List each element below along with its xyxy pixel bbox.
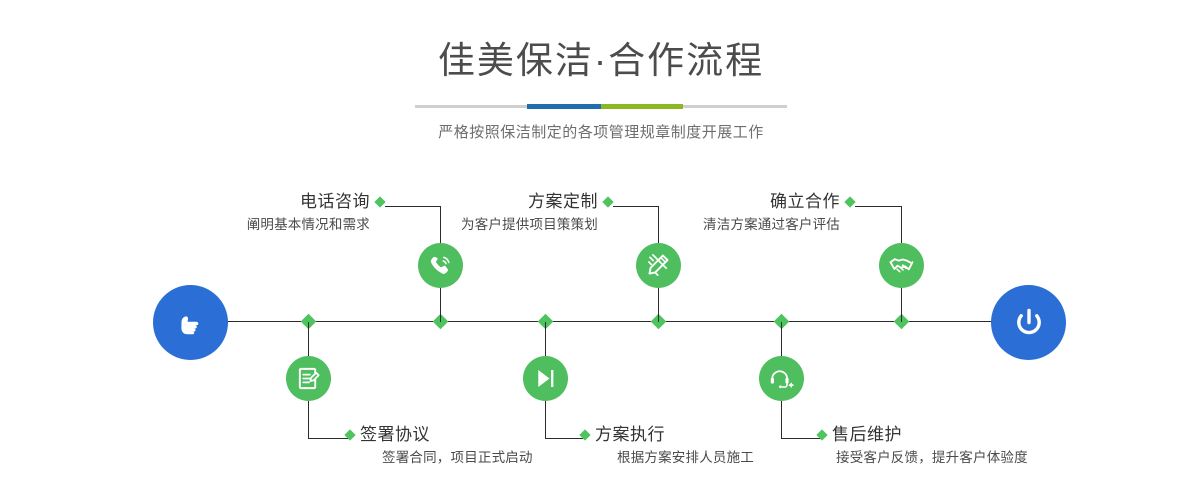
step-title-6: 售后维护 — [832, 425, 1092, 445]
play-execute-icon — [533, 366, 558, 391]
phone-call-icon — [427, 252, 454, 279]
step-title-1: 电话咨询 — [150, 192, 370, 212]
step-node-2[interactable] — [286, 356, 331, 401]
pointing-hand-icon — [171, 303, 211, 343]
process-timeline: 电话咨询 阐明基本情况和需求 方案定制 为客户提供项目策策划 确立合作 清洁方案… — [0, 0, 1202, 502]
step-label-4: 方案执行 根据方案安排人员施工 — [595, 425, 825, 467]
customer-service-icon — [768, 366, 794, 392]
step-label-5: 确立合作 清洁方案通过客户评估 — [622, 192, 840, 234]
step-desc-4: 根据方案安排人员施工 — [617, 449, 825, 467]
infographic-root: 佳美保洁·合作流程 严格按照保洁制定的各项管理规章制度开展工作 — [0, 0, 1202, 502]
timeline-end-node — [991, 285, 1066, 360]
step-title-4: 方案执行 — [595, 425, 825, 445]
step-node-1[interactable] — [418, 243, 463, 288]
step-node-4[interactable] — [523, 356, 568, 401]
document-edit-icon — [296, 366, 321, 391]
step-title-5: 确立合作 — [622, 192, 840, 212]
timeline-start-node — [153, 285, 228, 360]
step-node-6[interactable] — [759, 356, 804, 401]
handshake-icon — [888, 252, 915, 279]
step-desc-3: 为客户提供项目策策划 — [380, 216, 598, 234]
elbow-up-5 — [855, 206, 902, 207]
step-label-6: 售后维护 接受客户反馈，提升客户体验度 — [832, 425, 1092, 467]
step-desc-1: 阐明基本情况和需求 — [150, 216, 370, 234]
step-label-3: 方案定制 为客户提供项目策策划 — [380, 192, 598, 234]
label-marker-5 — [844, 196, 855, 207]
step-label-2: 签署协议 签署合同，项目正式启动 — [360, 425, 590, 467]
step-desc-2: 签署合同，项目正式启动 — [382, 449, 590, 467]
pencil-ruler-icon — [646, 253, 671, 278]
step-node-3[interactable] — [636, 243, 681, 288]
step-node-5[interactable] — [879, 243, 924, 288]
step-title-3: 方案定制 — [380, 192, 598, 212]
step-title-2: 签署协议 — [360, 425, 590, 445]
elbow-down-2 — [308, 438, 348, 439]
step-label-1: 电话咨询 阐明基本情况和需求 — [150, 192, 370, 234]
step-desc-6: 接受客户反馈，提升客户体验度 — [836, 449, 1092, 467]
power-icon — [1008, 302, 1050, 344]
step-desc-5: 清洁方案通过客户评估 — [622, 216, 840, 234]
label-marker-3 — [602, 196, 613, 207]
